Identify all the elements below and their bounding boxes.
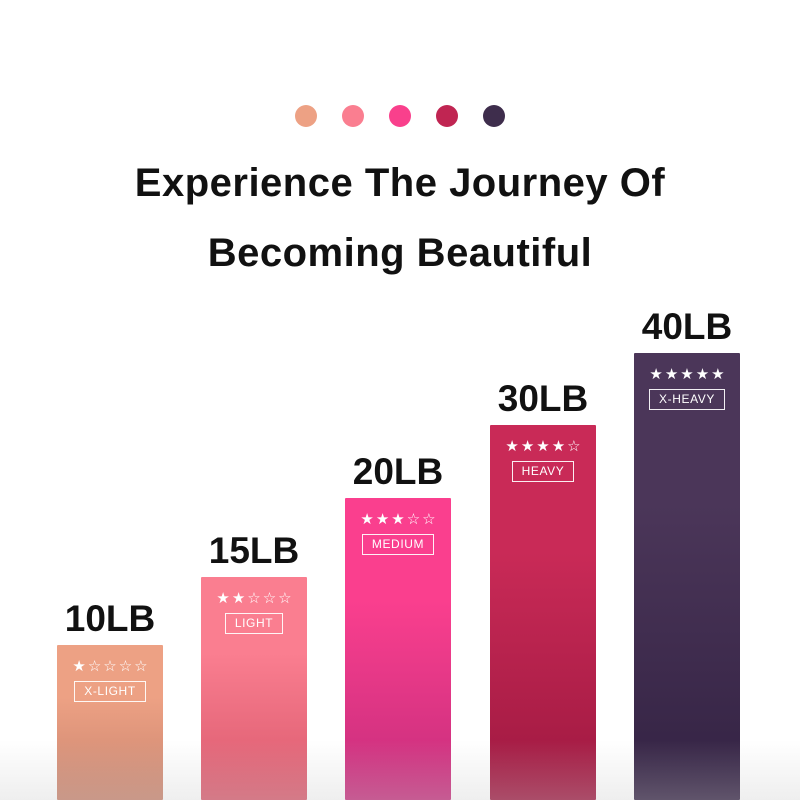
bar-30lb[interactable]: ★★★★☆HEAVY bbox=[490, 425, 596, 800]
star-empty-icon: ☆ bbox=[119, 659, 132, 674]
tier-label-light: LIGHT bbox=[225, 613, 283, 634]
tier-label-x-heavy: X-HEAVY bbox=[649, 389, 725, 410]
bar-badge-x-heavy: ★★★★★X-HEAVY bbox=[634, 367, 740, 410]
bar-20lb[interactable]: ★★★☆☆MEDIUM bbox=[345, 498, 451, 800]
bar-15lb[interactable]: ★★☆☆☆LIGHT bbox=[201, 577, 307, 800]
star-filled-icon: ★ bbox=[232, 591, 245, 606]
star-filled-icon: ★ bbox=[680, 367, 693, 382]
star-filled-icon: ★ bbox=[72, 659, 85, 674]
tier-label-heavy: HEAVY bbox=[512, 461, 575, 482]
star-filled-icon: ★ bbox=[649, 367, 662, 382]
bar-group-x-heavy[interactable]: 40LB★★★★★X-HEAVY bbox=[634, 301, 740, 800]
star-empty-icon: ☆ bbox=[103, 659, 116, 674]
star-rating-medium: ★★★☆☆ bbox=[360, 512, 435, 527]
star-empty-icon: ☆ bbox=[407, 512, 420, 527]
bar-weight-label-30lb: 30LB bbox=[498, 380, 588, 417]
bar-badge-light: ★★☆☆☆LIGHT bbox=[201, 591, 307, 634]
bar-weight-label-10lb: 10LB bbox=[65, 600, 155, 637]
resistance-bar-chart: 10LB★☆☆☆☆X-LIGHT15LB★★☆☆☆LIGHT20LB★★★☆☆M… bbox=[0, 0, 800, 800]
bar-weight-label-40lb: 40LB bbox=[642, 308, 732, 345]
bar-weight-label-20lb: 20LB bbox=[353, 453, 443, 490]
star-filled-icon: ★ bbox=[552, 439, 565, 454]
star-filled-icon: ★ bbox=[505, 439, 518, 454]
star-empty-icon: ☆ bbox=[263, 591, 276, 606]
star-empty-icon: ☆ bbox=[247, 591, 260, 606]
bar-group-heavy[interactable]: 30LB★★★★☆HEAVY bbox=[490, 373, 596, 800]
star-filled-icon: ★ bbox=[665, 367, 678, 382]
star-filled-icon: ★ bbox=[711, 367, 724, 382]
star-rating-light: ★★☆☆☆ bbox=[216, 591, 291, 606]
bar-badge-heavy: ★★★★☆HEAVY bbox=[490, 439, 596, 482]
star-rating-x-heavy: ★★★★★ bbox=[649, 367, 724, 382]
tier-label-medium: MEDIUM bbox=[362, 534, 434, 555]
bar-group-medium[interactable]: 20LB★★★☆☆MEDIUM bbox=[345, 446, 451, 800]
star-filled-icon: ★ bbox=[536, 439, 549, 454]
bar-weight-label-15lb: 15LB bbox=[209, 532, 299, 569]
star-empty-icon: ☆ bbox=[134, 659, 147, 674]
star-rating-x-light: ★☆☆☆☆ bbox=[72, 659, 147, 674]
bar-group-x-light[interactable]: 10LB★☆☆☆☆X-LIGHT bbox=[57, 593, 163, 800]
star-filled-icon: ★ bbox=[696, 367, 709, 382]
star-empty-icon: ☆ bbox=[278, 591, 291, 606]
star-filled-icon: ★ bbox=[360, 512, 373, 527]
tier-label-x-light: X-LIGHT bbox=[74, 681, 146, 702]
bar-group-light[interactable]: 15LB★★☆☆☆LIGHT bbox=[201, 525, 307, 800]
star-empty-icon: ☆ bbox=[422, 512, 435, 527]
star-filled-icon: ★ bbox=[521, 439, 534, 454]
star-filled-icon: ★ bbox=[391, 512, 404, 527]
bar-badge-x-light: ★☆☆☆☆X-LIGHT bbox=[57, 659, 163, 702]
bar-10lb[interactable]: ★☆☆☆☆X-LIGHT bbox=[57, 645, 163, 800]
bar-badge-medium: ★★★☆☆MEDIUM bbox=[345, 512, 451, 555]
star-empty-icon: ☆ bbox=[567, 439, 580, 454]
star-empty-icon: ☆ bbox=[88, 659, 101, 674]
star-rating-heavy: ★★★★☆ bbox=[505, 439, 580, 454]
bar-40lb[interactable]: ★★★★★X-HEAVY bbox=[634, 353, 740, 800]
star-filled-icon: ★ bbox=[376, 512, 389, 527]
star-filled-icon: ★ bbox=[216, 591, 229, 606]
